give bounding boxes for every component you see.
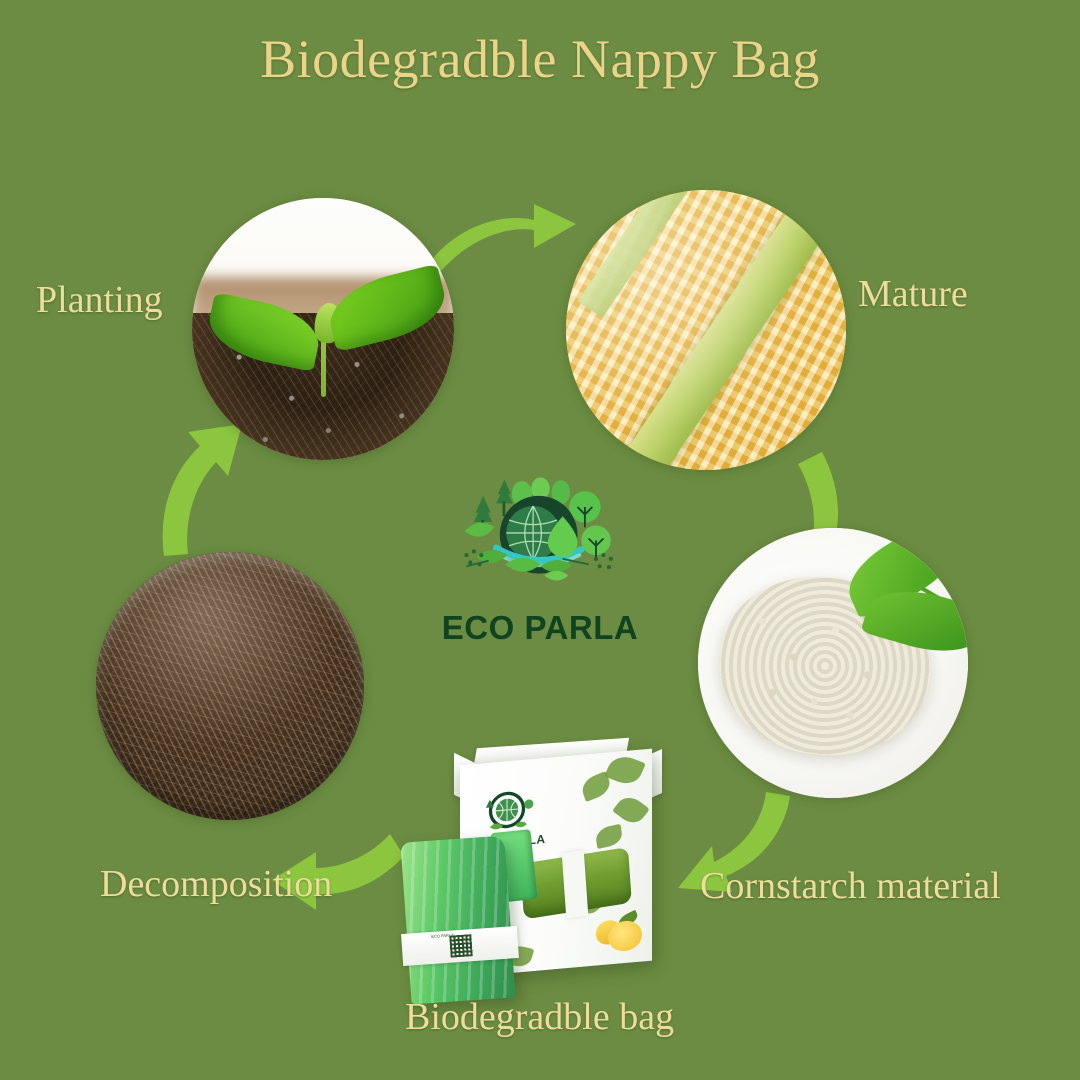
label-decomposition: Decomposition — [100, 862, 332, 906]
green-bag-roll — [400, 836, 515, 1005]
box-leaf-1 — [604, 752, 646, 788]
brand-logo: ECO PARLA — [415, 462, 665, 662]
compost-rim — [96, 552, 364, 820]
globe-leaves-trees-icon — [448, 462, 633, 602]
step-image-mature — [566, 190, 846, 470]
label-cornstarch: Cornstarch material — [700, 864, 1001, 908]
label-mature: Mature — [858, 272, 968, 316]
qr-code-icon — [449, 934, 472, 957]
box-bag-roll-band — [562, 850, 589, 919]
box-leaf-2 — [579, 771, 612, 802]
box-lemon — [608, 919, 642, 952]
box-leaf-3 — [612, 792, 650, 828]
corn-highlight — [566, 190, 846, 470]
step-image-decomposition — [96, 552, 364, 820]
brand-name: ECO PARLA — [415, 609, 665, 647]
step-image-cornstarch — [698, 528, 968, 798]
step-image-biodegradable-bag: ECO PARLA ECO PARLA — [398, 735, 698, 1000]
label-planting: Planting — [36, 278, 163, 322]
step-image-planting — [192, 198, 454, 460]
label-biodegradable-bag: Biodegradble bag — [405, 995, 674, 1039]
box-leaf-4 — [595, 824, 624, 849]
infographic-canvas: Biodegradble Nappy Bag — [0, 0, 1080, 1080]
box-logo-icon — [474, 784, 540, 838]
